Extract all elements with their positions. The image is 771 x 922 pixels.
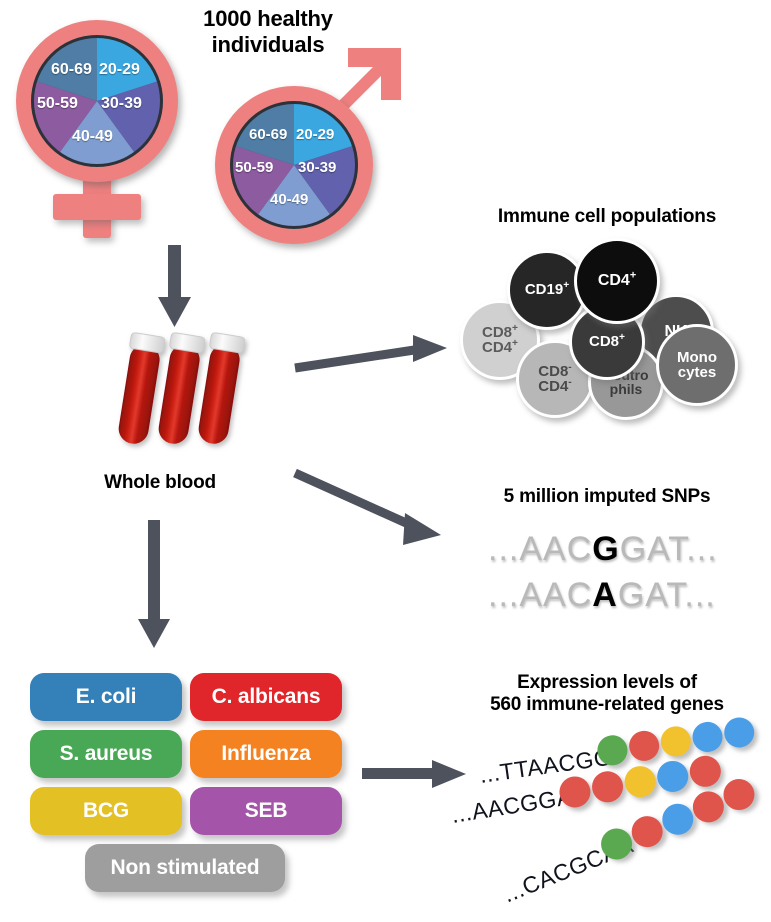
snp-tail: GAT... — [620, 530, 718, 568]
stimulus-seb[interactable]: SEB — [190, 787, 342, 835]
strand-bead — [722, 716, 756, 750]
arrow-blood-to-stimuli — [135, 520, 175, 650]
stimulus-s-aureus[interactable]: S. aureus — [30, 730, 182, 778]
female-gender-symbol: 20-29 30-39 40-49 50-59 60-69 — [6, 8, 196, 238]
blood-tubes — [110, 330, 260, 460]
snp-sequence-row: ...AACAGAT... — [488, 576, 716, 615]
male-age-pie: 20-29 30-39 40-49 50-59 60-69 — [230, 101, 358, 229]
strand-bead — [655, 759, 690, 794]
stimulus-label: SEB — [245, 799, 288, 823]
stimuli-panel: E. coli C. albicans S. aureus Influenza … — [30, 673, 360, 898]
immune-cell-cd4p: CD4+ — [574, 238, 660, 324]
immune-cell-label: CD8+ — [589, 334, 625, 349]
strand-bead — [627, 729, 661, 763]
strand-bead — [659, 724, 693, 758]
female-symbol-crossbar — [53, 194, 141, 220]
immune-cell-label: CD8- CD4- — [538, 364, 571, 395]
snp-lead: ...AAC — [488, 530, 592, 568]
snp-variant-allele: A — [592, 576, 618, 614]
stimulus-c-albicans[interactable]: C. albicans — [190, 673, 342, 721]
expression-strands: ...TTAACGG ...AACGGAT ...CACGCAA — [450, 730, 771, 910]
figure-canvas: 1000 healthy individuals 20-29 30-39 40-… — [0, 0, 771, 922]
snp-sequences: ...AACGGAT... ...AACAGAT... — [470, 530, 760, 620]
strand-bead — [688, 754, 723, 789]
immune-cell-label: CD4+ — [598, 273, 636, 289]
stimulus-influenza[interactable]: Influenza — [190, 730, 342, 778]
stimulus-label: Influenza — [221, 742, 310, 766]
arrow-blood-to-snps — [295, 465, 455, 555]
strand-bead — [691, 720, 725, 754]
immune-cell-cluster: CD8+ CD4+ CD19+ CD4+ CD8+ NK — [452, 236, 762, 421]
blood-tube — [115, 332, 166, 446]
stimulus-e-coli[interactable]: E. coli — [30, 673, 182, 721]
immune-cell-monocytes: Monocytes — [656, 324, 738, 406]
snp-tail: GAT... — [618, 576, 716, 614]
whole-blood-label: Whole blood — [60, 472, 260, 494]
stimulus-non-stimulated[interactable]: Non stimulated — [85, 844, 285, 892]
female-age-pie: 20-29 30-39 40-49 50-59 60-69 — [31, 35, 163, 167]
stimulus-bcg[interactable]: BCG — [30, 787, 182, 835]
strand-bead — [590, 769, 625, 804]
arrow-blood-to-immune — [295, 330, 455, 375]
cohort-title-line1: 1000 healthy — [168, 6, 368, 32]
stimulus-label: E. coli — [76, 685, 136, 709]
expression-title: Expression levels of 560 immune-related … — [452, 672, 762, 717]
stimulus-label: Non stimulated — [111, 856, 260, 880]
immune-cell-populations-title: Immune cell populations — [452, 206, 762, 228]
immune-cell-label: Monocytes — [677, 350, 717, 381]
stimulus-label: BCG — [83, 799, 129, 823]
snp-variant-allele: G — [592, 530, 619, 568]
immune-cell-label: CD8+ CD4+ — [482, 325, 518, 356]
snp-sequence-row: ...AACGGAT... — [488, 530, 718, 569]
expression-title-line2: 560 immune-related genes — [452, 694, 762, 716]
stimulus-label: C. albicans — [212, 685, 321, 709]
snp-lead: ...AAC — [488, 576, 592, 614]
stimulus-label: S. aureus — [60, 742, 153, 766]
expression-title-line1: Expression levels of — [452, 672, 762, 694]
strand-bead — [622, 764, 657, 799]
arrow-cohort-to-blood — [155, 245, 195, 330]
snp-title: 5 million imputed SNPs — [452, 486, 762, 508]
male-gender-symbol: 20-29 30-39 40-49 50-59 60-69 — [205, 40, 415, 245]
immune-cell-label: CD19+ — [525, 282, 569, 297]
